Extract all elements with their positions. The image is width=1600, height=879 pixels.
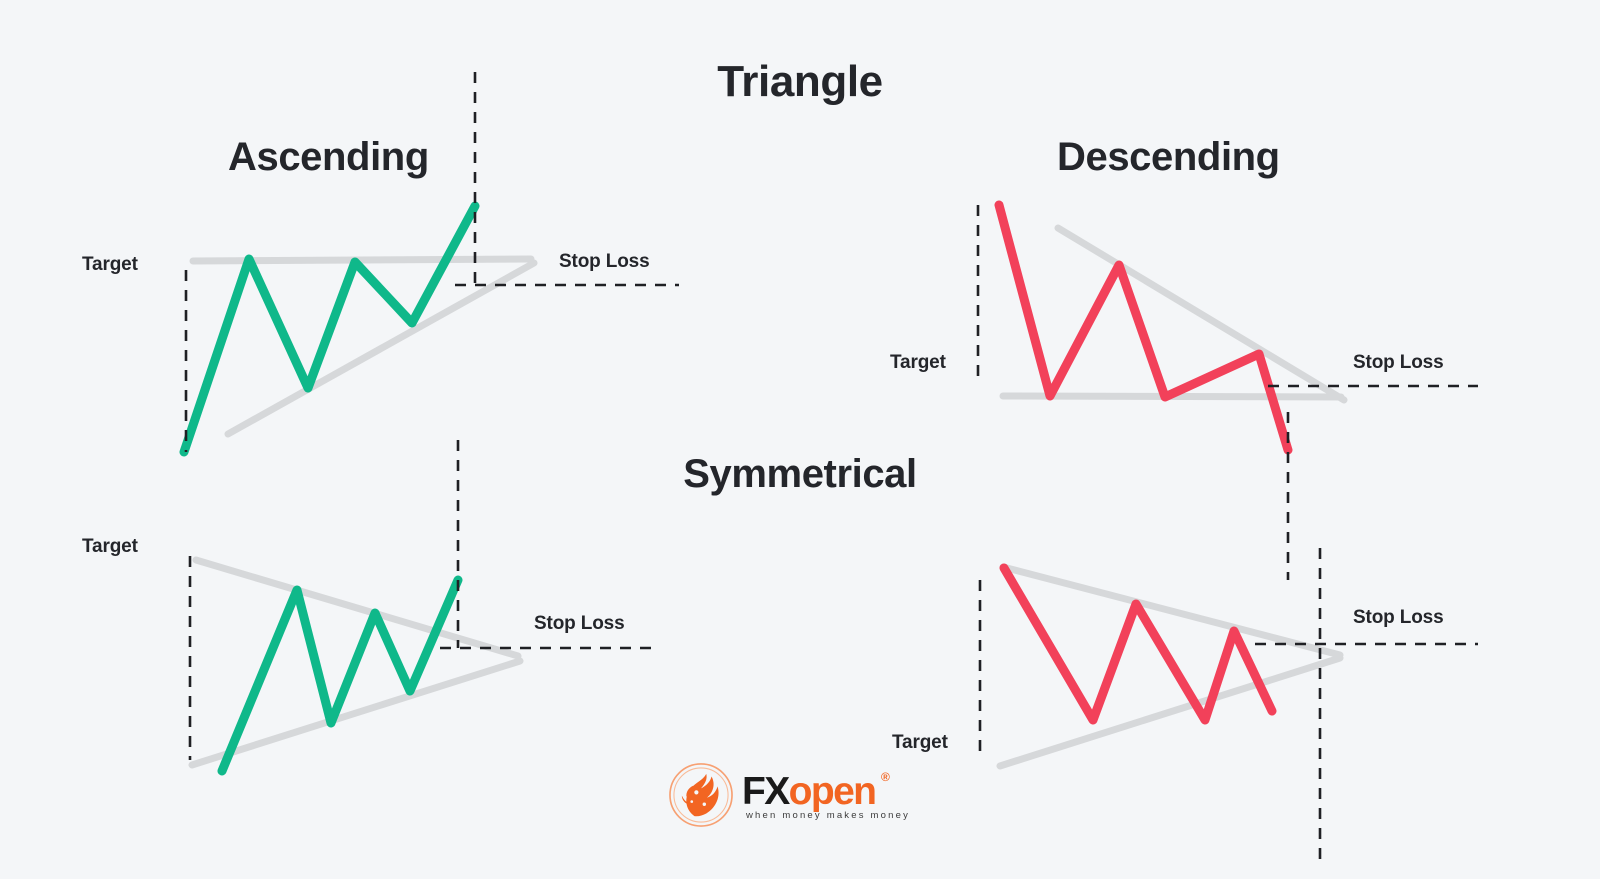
wordmark-fx: FX: [742, 770, 789, 813]
symmetrical-bearish-price-line: [1004, 568, 1272, 720]
symmetrical-bearish-trendline-resistance: [1003, 567, 1340, 655]
symmetrical-bullish-target-label: Target: [82, 536, 138, 558]
symmetrical-bearish-target-label: Target: [892, 732, 948, 754]
registered-trademark-icon: ®: [881, 770, 890, 784]
infographic-canvas: Triangle Ascending Descending Symmetrica…: [0, 0, 1600, 879]
panel-symmetrical-bullish: [190, 440, 652, 771]
symmetrical-bullish-trendline-resistance: [196, 560, 518, 656]
ascending-stop-loss-label: Stop Loss: [559, 251, 650, 273]
symmetrical-bearish-trendline-support: [1000, 658, 1340, 766]
pattern-diagrams: [0, 0, 1600, 879]
ascending-target-label: Target: [82, 254, 138, 276]
symmetrical-bullish-stop-loss-label: Stop Loss: [534, 613, 625, 635]
wordmark-open: open: [789, 770, 876, 813]
descending-price-line: [999, 205, 1288, 450]
panel-symmetrical-bearish: [980, 548, 1478, 866]
brand-tagline: when money makes money: [746, 810, 910, 821]
descending-stop-loss-label: Stop Loss: [1353, 352, 1444, 374]
fxopen-logo: FXopen ® when money makes money: [668, 760, 900, 832]
panel-descending: [978, 205, 1478, 580]
fxopen-wordmark: FXopen: [742, 772, 875, 812]
descending-trendline-resistance: [1058, 228, 1344, 400]
symmetrical-bearish-stop-loss-label: Stop Loss: [1353, 607, 1444, 629]
descending-target-label: Target: [890, 352, 946, 374]
fxopen-phoenix-emblem-icon: [668, 762, 734, 828]
ascending-price-line: [184, 206, 475, 452]
